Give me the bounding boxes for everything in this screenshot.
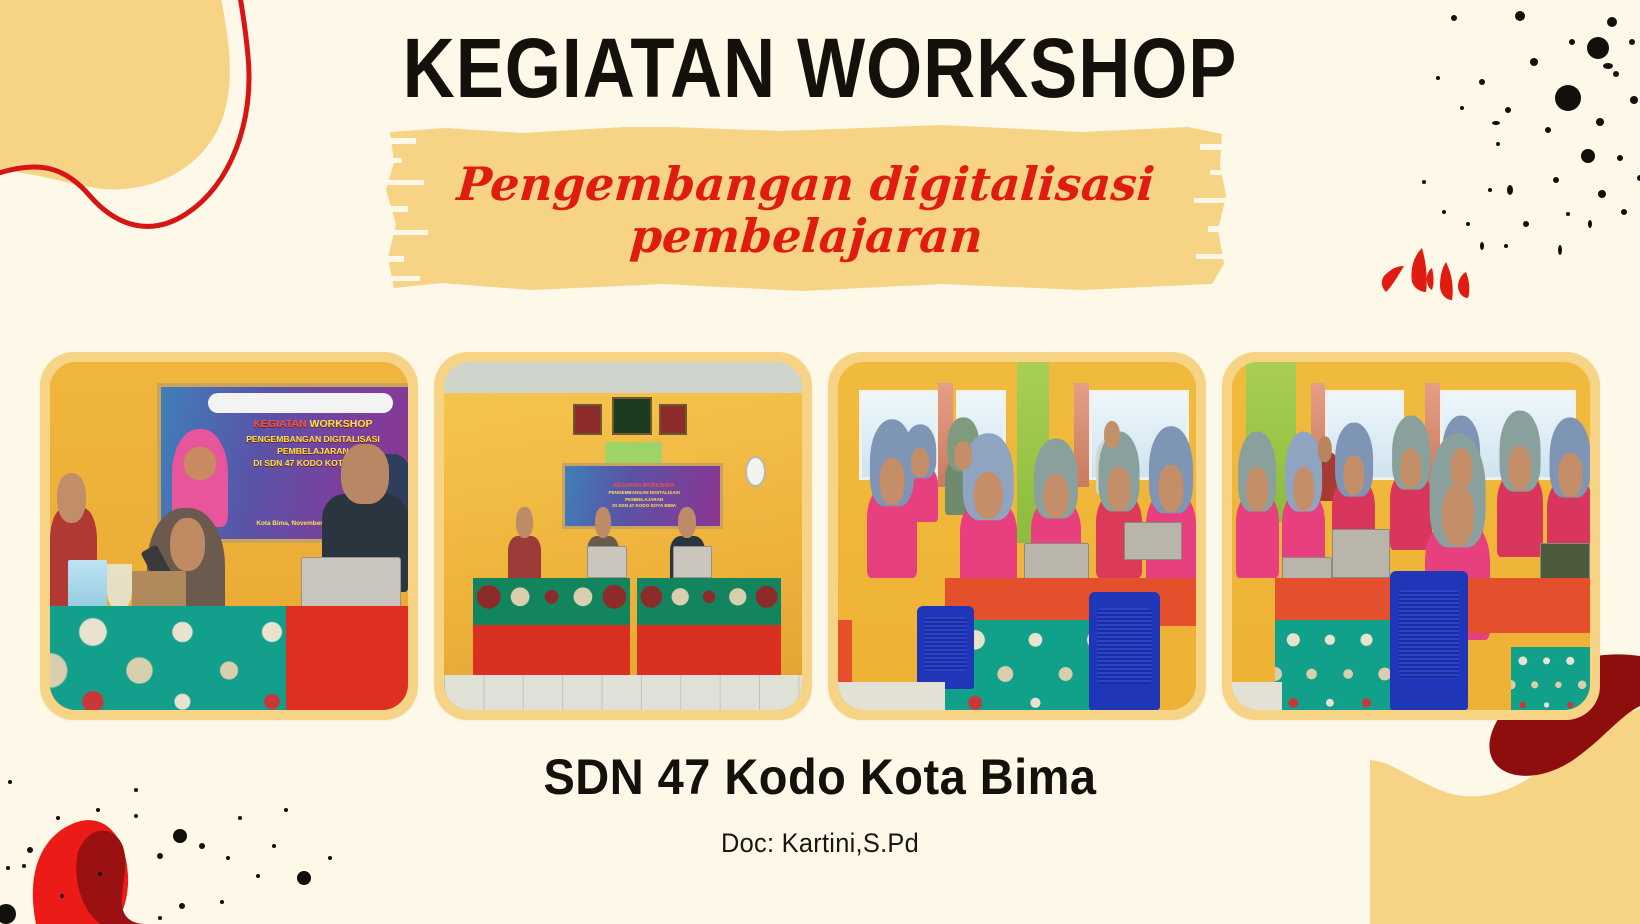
photo-1-speaker-face bbox=[170, 518, 205, 571]
photo-gallery: KEGIATAN WORKSHOP PENGEMBANGAN DIGITALIS… bbox=[40, 352, 1600, 720]
photo-4-participant-1 bbox=[1236, 494, 1279, 578]
photo-3-face-1 bbox=[911, 448, 929, 477]
photo-4-laptop-1 bbox=[1332, 529, 1389, 578]
page-title: KEGIATAN WORKSHOP bbox=[115, 26, 1525, 112]
photo-4-batik-cloth-right bbox=[1511, 647, 1590, 710]
photo-3-face-5 bbox=[1044, 474, 1069, 517]
banner-2-line2: PENGEMBANGAN DIGITALISASI bbox=[590, 490, 699, 497]
photo-1-red-cloth bbox=[286, 606, 408, 710]
photo-frame-3[interactable] bbox=[828, 352, 1206, 720]
banner-2-line1: KEGIATAN WORKSHOP bbox=[590, 482, 699, 490]
photo-4-standing-face bbox=[1318, 437, 1332, 462]
doc-credit: Doc: Kartini,S.Pd bbox=[49, 828, 1591, 859]
photo-1-laptop bbox=[301, 557, 401, 609]
photo-3-face-2 bbox=[954, 441, 972, 470]
photo-2-laptop-1 bbox=[587, 546, 626, 577]
photo-3-chair-2 bbox=[1089, 592, 1161, 710]
poster-header: KEGIATAN WORKSHOP bbox=[0, 26, 1640, 112]
photo-4-face-7 bbox=[1559, 453, 1582, 496]
school-name: SDN 47 Kodo Kota Bima bbox=[49, 748, 1591, 806]
poster-subtitle: Pengembangan digitalisasi pembelajaran bbox=[382, 126, 1230, 296]
photo-4-face-6 bbox=[1509, 446, 1532, 489]
banner-1-line1a: KEGIATAN bbox=[253, 418, 309, 430]
photo-3-floor bbox=[838, 682, 945, 710]
photo-3-face-7 bbox=[1158, 465, 1183, 512]
photo-4-face-3 bbox=[1343, 456, 1364, 496]
photo-4-batik-cloth-left bbox=[1275, 620, 1397, 710]
photo-2-banner-text: KEGIATAN WORKSHOP PENGEMBANGAN DIGITALIS… bbox=[590, 482, 699, 511]
photo-3-participant-3 bbox=[867, 487, 917, 577]
photo-2-ceiling bbox=[444, 362, 802, 393]
burst-mark-right bbox=[1382, 248, 1469, 300]
photo-4-bag bbox=[1540, 543, 1590, 581]
photo-frame-2[interactable]: KEGIATAN WORKSHOP PENGEMBANGAN DIGITALIS… bbox=[434, 352, 812, 720]
banner-1-line2: PENGEMBANGAN DIGITALISASI bbox=[213, 433, 408, 445]
photo-4-face-4 bbox=[1400, 449, 1421, 489]
photo-4-participant-6 bbox=[1497, 473, 1544, 557]
photo-4-floor bbox=[1232, 682, 1282, 710]
photo-2-laptop-2 bbox=[673, 546, 712, 577]
poster-canvas: KEGIATAN WORKSHOP Pengembangan d bbox=[0, 0, 1640, 924]
photo-2-floor bbox=[444, 675, 802, 710]
photo-3-face-3 bbox=[879, 458, 904, 505]
photo-3-face-4 bbox=[974, 472, 1003, 519]
photo-4-participant-4 bbox=[1390, 473, 1433, 550]
photo-1: KEGIATAN WORKSHOP PENGEMBANGAN DIGITALIS… bbox=[50, 362, 408, 710]
photo-2-table-right bbox=[637, 578, 780, 675]
subtitle-line-2: pembelajaran bbox=[628, 212, 984, 262]
photo-3-laptop-2 bbox=[1124, 522, 1181, 560]
photo-3-standing-face bbox=[1104, 421, 1120, 450]
photo-4-face-5 bbox=[1450, 449, 1471, 489]
poster-footer: SDN 47 Kodo Kota Bima Doc: Kartini,S.Pd bbox=[0, 748, 1640, 859]
photo-2-portrait-left bbox=[573, 404, 602, 435]
subtitle-line-1: Pengembangan digitalisasi bbox=[456, 160, 1157, 210]
photo-2-garuda-emblem bbox=[612, 397, 651, 435]
photo-2: KEGIATAN WORKSHOP PENGEMBANGAN DIGITALIS… bbox=[444, 362, 802, 710]
photo-4 bbox=[1232, 362, 1590, 710]
photo-3-face-6 bbox=[1107, 467, 1130, 510]
photo-frame-1[interactable]: KEGIATAN WORKSHOP PENGEMBANGAN DIGITALIS… bbox=[40, 352, 418, 720]
banner-1-line1b: WORKSHOP bbox=[310, 418, 373, 430]
photo-4-chair-1 bbox=[1390, 571, 1469, 710]
photo-2-banner: KEGIATAN WORKSHOP PENGEMBANGAN DIGITALIS… bbox=[562, 463, 723, 529]
photo-1-table bbox=[50, 606, 408, 710]
photo-3 bbox=[838, 362, 1196, 710]
banner-2-line3: PEMBELAJARAN bbox=[590, 497, 699, 504]
photo-1-banner-logos bbox=[208, 393, 393, 413]
photo-2-portrait-right bbox=[659, 404, 688, 435]
photo-frame-4[interactable] bbox=[1222, 352, 1600, 720]
photo-3-chair-1 bbox=[917, 606, 974, 690]
photo-1-glass bbox=[107, 564, 132, 609]
photo-2-batik-cloth-right bbox=[637, 578, 780, 625]
photo-2-batik-cloth-left bbox=[473, 578, 631, 625]
photo-2-table-left bbox=[473, 578, 631, 675]
photo-4-face-front bbox=[1441, 484, 1473, 546]
